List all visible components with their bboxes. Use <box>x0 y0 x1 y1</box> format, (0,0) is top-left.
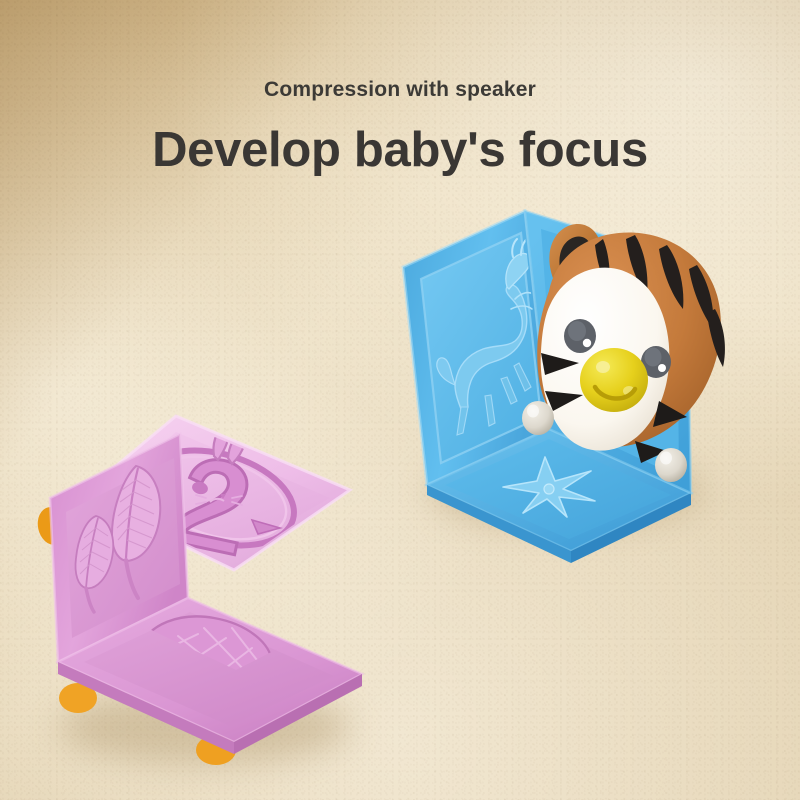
tiger-block-art <box>395 195 725 535</box>
page-title: Develop baby's focus <box>0 122 800 178</box>
product-banner: Compression with speaker Develop baby's … <box>0 0 800 800</box>
tiger-eye-left <box>564 319 596 353</box>
tiger-nose <box>580 348 648 412</box>
tiger-character <box>537 224 725 463</box>
tiger-block-nub-left <box>522 401 554 435</box>
tiger-block[interactable] <box>395 195 725 535</box>
subtitle: Compression with speaker <box>0 78 800 102</box>
tiger-block-nub-right <box>655 448 687 482</box>
number-two-block[interactable] <box>28 398 388 768</box>
pink-block-art <box>28 398 388 768</box>
